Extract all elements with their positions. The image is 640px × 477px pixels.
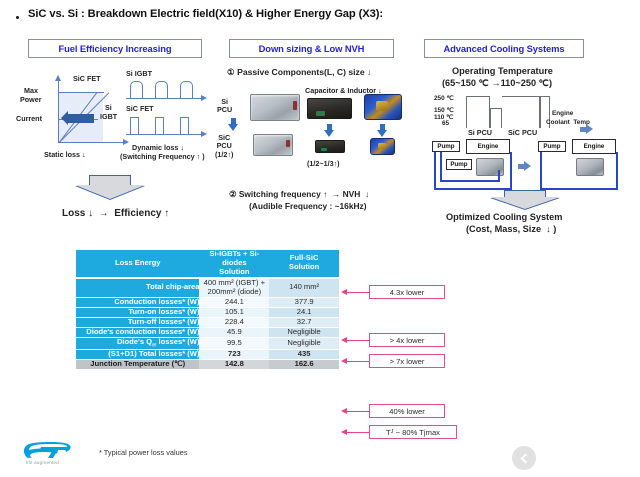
tick-65: 65 [442, 120, 449, 127]
component-capacitor-small [315, 140, 345, 153]
wave-pulse [155, 117, 164, 134]
row-value-sic: 377.9 [269, 297, 339, 307]
label-si-pcu: Si PCU [217, 98, 232, 115]
callout-leader-line [347, 292, 369, 294]
caption-static-loss: Static loss ↓ [44, 151, 86, 159]
x-axis-arrow-icon [123, 139, 129, 145]
wave-arrow-icon [201, 131, 207, 137]
label-size-ratio: (1/2~1/3↑) [307, 160, 340, 168]
panel-down-sizing: ① Passive Components(L, C) size ↓ Capaci… [225, 62, 420, 227]
bar-si-pcu-operating [490, 108, 502, 128]
heading-operating-temperature: Operating Temperature [452, 66, 553, 77]
row-key: Conduction losses* (W) [76, 297, 199, 307]
pipe-segment [510, 152, 512, 190]
row-value-sic: 24.1 [269, 307, 339, 317]
callout-leader-line [347, 340, 369, 342]
pipe-segment [434, 152, 436, 190]
section-header-fuel-efficiency: Fuel Efficiency Increasing [28, 39, 202, 58]
pipe-segment [440, 152, 442, 182]
callout-leader-line [347, 411, 369, 413]
pipe-segment [440, 180, 500, 182]
col-header-sic-solution: Full-SiC Solution [269, 250, 339, 278]
row-value-sic: Negligible [269, 327, 339, 337]
panel-cooling-systems: Operating Temperature (65~150 ℃ →110~250… [424, 62, 640, 227]
panel-fuel-efficiency: Max Power Current SiC FET Si IGBT Static… [10, 62, 222, 222]
row-value-si: 142.8 [199, 359, 269, 368]
label-bar-sic-pcu: SiC PCU [508, 129, 537, 137]
improvement-arrow-icon [68, 114, 94, 123]
wave-baseline [126, 98, 202, 99]
item-switching-frequency: ② Switching frequency ↑ → NVH ↓ [229, 190, 369, 200]
label-bar-si-pcu: Si PCU [468, 129, 492, 137]
x-axis [58, 142, 124, 143]
callout-chip-area: 4.3x lower [369, 285, 445, 299]
table-row: Total chip-area 400 mm² (IGBT) + 200mm² … [76, 278, 339, 297]
row-key: Turn-off losses* (W) [76, 317, 199, 327]
transition-arrow-icon [518, 161, 532, 172]
box-engine-left: Engine [466, 139, 510, 154]
row-value-sic: 32.7 [269, 317, 339, 327]
component-sic-pcu-module [253, 134, 293, 156]
pipe-segment [616, 152, 618, 190]
box-pump-left-1: Pump [432, 141, 460, 152]
loss-energy-table: Loss Energy Si-IGBTs + Si-diodes Solutio… [76, 250, 339, 369]
box-pump-left-2: Pump [446, 159, 472, 170]
row-key: Diode's Qrr losses* (W) [76, 337, 199, 349]
table-row: Junction Temperature (℃) 142.8 162.6 [76, 359, 339, 368]
col-header-si-line1: Si-IGBTs + Si-diodes [199, 250, 269, 268]
label-wave-sic-fet: SiC FET [126, 105, 154, 113]
bar-sic-pcu-range [502, 96, 540, 128]
wave-pulse [180, 117, 189, 134]
page-title: SiC vs. Si : Breakdown Electric field(X1… [16, 8, 383, 20]
row-value-sic: 435 [269, 349, 339, 359]
down-arrow-icon [228, 118, 239, 131]
section-header-label: Advanced Cooling Systems [443, 43, 564, 54]
callout-turn-off: > 7x lower [369, 354, 445, 368]
section-header-label: Down sizing & Low NVH [259, 43, 365, 54]
row-value-sic: Negligible [269, 337, 339, 349]
col-header-si-line2: Solution [199, 268, 269, 277]
footnote-text: * Typical power loss values [99, 448, 188, 457]
row-key: Diode's conduction losses* (W) [76, 327, 199, 337]
row-value-sic: 162.6 [269, 359, 339, 368]
box-pump-right: Pump [538, 141, 566, 152]
section-header-label: Fuel Efficiency Increasing [58, 43, 171, 54]
st-logo-tagline: life.augmented [26, 460, 59, 465]
previous-slide-button[interactable] [512, 446, 536, 470]
component-inductor-small [370, 138, 395, 155]
label-engine-coolant-1: Engine [552, 110, 573, 117]
pipe-segment [540, 152, 542, 190]
wave-pulse [155, 81, 168, 98]
row-value-si: 228.4 [199, 317, 269, 327]
conclusion-arrow-icon [75, 175, 145, 201]
callout-leader-line [347, 432, 369, 434]
table-row: Turn-off losses* (W) 228.4 32.7 [76, 317, 339, 327]
heading-temperature-range: (65~150 ℃ →110~250 ℃) [442, 78, 552, 89]
table-row: Diode's Qrr losses* (W) 99.5 Negligible [76, 337, 339, 349]
pipe-segment [498, 170, 500, 182]
st-logo-icon [22, 441, 72, 460]
col-header-sic-line2: Solution [269, 263, 339, 272]
caption-switching-frequency: (Switching Frequency ↑ ) [120, 153, 205, 161]
chevron-left-icon [521, 453, 531, 463]
callout-junction-temp: TJ ~ 80% Tjmax [369, 425, 457, 439]
col-header-si-solution: Si-IGBTs + Si-diodes Solution [199, 250, 269, 278]
row-value-si: 723 [199, 349, 269, 359]
table-row: Turn-on losses* (W) 105.1 24.1 [76, 307, 339, 317]
row-key: Turn-on losses* (W) [76, 307, 199, 317]
title-text: SiC vs. Si : Breakdown Electric field(X1… [28, 8, 383, 20]
label-sic-fet-curve: SiC FET [73, 75, 101, 83]
down-arrow-icon [324, 124, 335, 137]
row-key: Total chip-area [76, 278, 199, 297]
callout-turn-on: > 4x lower [369, 333, 445, 347]
coolant-arrow-icon [580, 124, 594, 135]
component-motor-right [576, 158, 604, 176]
label-current: Current [16, 115, 42, 123]
st-logo: life.augmented [18, 440, 76, 470]
row-value-si: 99.5 [199, 337, 269, 349]
y-axis-arrow-icon [55, 75, 61, 81]
wave-pulse [130, 81, 143, 98]
wave-arrow-icon [201, 95, 207, 101]
component-inductor-large [364, 94, 402, 120]
item-audible-frequency: (Audible Frequency : ~16kHz) [249, 202, 367, 212]
row-value-sic: 140 mm² [269, 278, 339, 297]
label-igbt-curve: IGBT [100, 113, 117, 121]
table-row: (S1+D1) Total losses* (W) 723 435 [76, 349, 339, 359]
box-engine-right: Engine [572, 139, 616, 154]
component-si-pcu-module [250, 94, 300, 121]
label-sic-pcu: SiC PCU (1/2↑) [215, 134, 233, 159]
row-value-si: 105.1 [199, 307, 269, 317]
row-value-si: 400 mm² (IGBT) + 200mm² (diode) [199, 278, 269, 297]
cooling-conclusion-arrow-icon [490, 190, 560, 212]
row-value-si: 45.9 [199, 327, 269, 337]
row-value-si-line2: 200mm² (diode) [199, 288, 269, 297]
callout-total-losses: 40% lower [369, 404, 445, 418]
slide-canvas: SiC vs. Si : Breakdown Electric field(X1… [0, 0, 640, 477]
conclusion-text: Loss ↓ → Efficiency ↑ [62, 208, 169, 220]
footer-optimized-cooling: Optimized Cooling System [446, 212, 562, 223]
table-header-row: Loss Energy Si-IGBTs + Si-diodes Solutio… [76, 250, 339, 278]
wave-pulse [130, 117, 139, 134]
footer-cost-mass-size: (Cost, Mass, Size ↓ ) [466, 224, 556, 235]
wave-pulse [180, 81, 193, 98]
row-key: (S1+D1) Total losses* (W) [76, 349, 199, 359]
wave-baseline [126, 134, 202, 135]
section-header-cooling: Advanced Cooling Systems [424, 39, 584, 58]
label-wave-si-igbt: Si IGBT [126, 70, 152, 78]
table-row: Diode's conduction losses* (W) 45.9 Negl… [76, 327, 339, 337]
table-row: Conduction losses* (W) 244.1 377.9 [76, 297, 339, 307]
tick-250: 250 ℃ [434, 94, 454, 102]
row-value-si: 244.1 [199, 297, 269, 307]
component-capacitor-large [307, 98, 352, 119]
bullet-icon [16, 16, 19, 19]
label-max-power-line2: Power [20, 96, 42, 104]
callout-leader-line [347, 361, 369, 363]
section-header-down-sizing: Down sizing & Low NVH [229, 39, 394, 58]
down-arrow-icon [377, 124, 388, 137]
bar-si-pcu-range [466, 96, 490, 128]
col-header-loss-energy: Loss Energy [76, 250, 199, 278]
item-passive-components: ① Passive Components(L, C) size ↓ [227, 68, 371, 78]
row-key: Junction Temperature (℃) [76, 359, 199, 368]
